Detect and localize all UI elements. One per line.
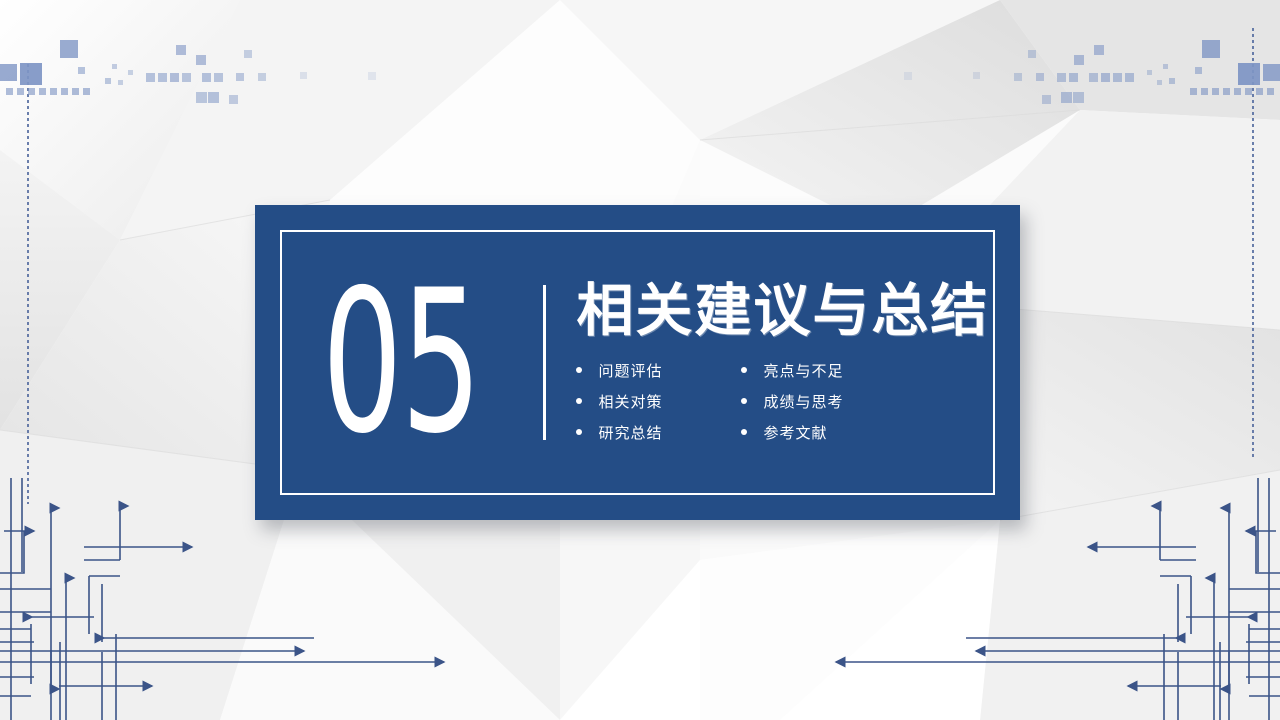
bullet-dot-icon	[576, 367, 582, 373]
list-item-label: 相关对策	[598, 391, 662, 412]
section-number: 05	[322, 272, 480, 453]
list-item-label: 参考文献	[763, 422, 827, 443]
panel-text-block: 相关建议与总结 问题评估 亮点与不足 相关对策	[576, 282, 995, 443]
list-item-label: 成绩与思考	[763, 391, 843, 412]
bullet-grid: 问题评估 亮点与不足 相关对策 成绩与思考	[576, 360, 995, 443]
page-title: 相关建议与总结	[576, 282, 995, 342]
bullet-dot-icon	[576, 398, 582, 404]
list-item-label: 研究总结	[598, 422, 662, 443]
list-item[interactable]: 研究总结	[576, 422, 741, 443]
list-item[interactable]: 问题评估	[576, 360, 741, 381]
bullet-dot-icon	[741, 367, 747, 373]
bullet-dot-icon	[741, 429, 747, 435]
section-panel: 05 相关建议与总结 问题评估 亮点与不足 相关对策	[255, 205, 1020, 520]
slide-canvas: 05 相关建议与总结 问题评估 亮点与不足 相关对策	[0, 0, 1280, 720]
bullet-dot-icon	[741, 398, 747, 404]
list-item-label: 问题评估	[598, 360, 662, 381]
dotted-rule-right	[1252, 28, 1254, 458]
panel-content: 05 相关建议与总结 问题评估 亮点与不足 相关对策	[280, 230, 995, 495]
list-item[interactable]: 亮点与不足	[741, 360, 906, 381]
bullet-dot-icon	[576, 429, 582, 435]
list-item[interactable]: 相关对策	[576, 391, 741, 412]
vertical-divider	[543, 285, 546, 440]
list-item-label: 亮点与不足	[763, 360, 843, 381]
dotted-rule-left	[27, 64, 29, 504]
list-item[interactable]: 参考文献	[741, 422, 906, 443]
list-item[interactable]: 成绩与思考	[741, 391, 906, 412]
